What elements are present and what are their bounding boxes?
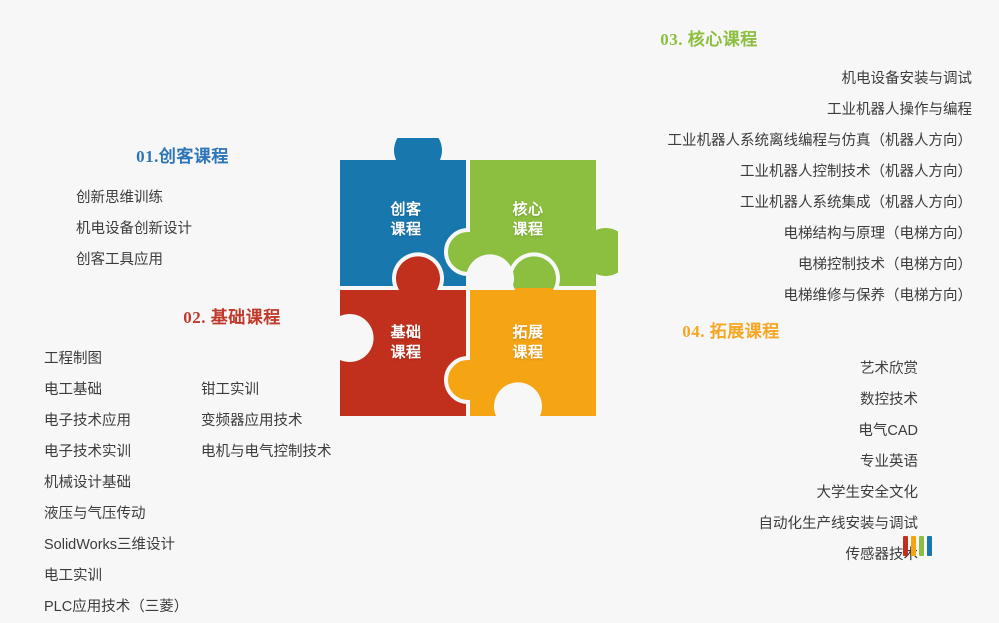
section-maker-heading: 01.创客课程 [50,145,315,169]
course-item: 变频器应用技术 [201,406,391,437]
course-item: 工业机器人系统集成（机器人方向） [560,188,980,219]
course-item: 电梯维修与保养（电梯方向） [560,281,980,312]
section-base-heading: 02. 基础课程 [44,306,374,330]
course-item: 大学生安全文化 [600,478,980,509]
base-courses-grid: 工程制图 电工基础 电子技术应用 电子技术实训 机械设计基础 液压与气压传动 S… [44,344,374,623]
course-item: 电子技术应用 [44,406,204,437]
course-item: 电梯结构与原理（电梯方向） [560,219,980,250]
course-item: PLC应用技术（三菱） [44,592,204,623]
logo-bar-green [919,536,924,556]
course-item: 钳工实训 [201,375,391,406]
course-item: 电气CAD [600,416,980,447]
course-item: 电工实训 [44,561,204,592]
course-item: 工业机器人系统离线编程与仿真（机器人方向） [560,126,980,157]
section-maker-courses: 01.创客课程 创新思维训练 机电设备创新设计 创客工具应用 [50,145,315,276]
logo-bars-icon [903,536,932,556]
course-item: 创新思维训练 [50,183,315,214]
base-courses-column-right: 钳工实训 变频器应用技术 电机与电气控制技术 [201,375,391,468]
course-item: 电子技术实训 [44,437,204,468]
course-item: 工业机器人操作与编程 [560,95,980,126]
section-core-heading: 03. 核心课程 [560,28,980,52]
base-courses-column-left: 工程制图 电工基础 电子技术应用 电子技术实训 机械设计基础 液压与气压传动 S… [44,344,204,623]
logo-bar-blue [927,536,932,556]
course-item: 机电设备创新设计 [50,214,315,245]
section-extension-heading: 04. 拓展课程 [600,320,980,344]
course-item: 数控技术 [600,385,980,416]
course-item: 电工基础 [44,375,204,406]
course-item: 液压与气压传动 [44,499,204,530]
section-base-courses: 02. 基础课程 工程制图 电工基础 电子技术应用 电子技术实训 机械设计基础 … [44,306,374,623]
course-item: 电梯控制技术（电梯方向） [560,250,980,281]
course-item: 艺术欣赏 [600,354,980,385]
course-item: 专业英语 [600,447,980,478]
course-item: 电机与电气控制技术 [201,437,391,468]
course-item: 机电设备安装与调试 [560,64,980,95]
course-item: 工业机器人控制技术（机器人方向） [560,157,980,188]
course-item: SolidWorks三维设计 [44,530,204,561]
section-extension-courses: 04. 拓展课程 艺术欣赏 数控技术 电气CAD 专业英语 大学生安全文化 自动… [600,320,980,571]
course-item: 创客工具应用 [50,245,315,276]
section-core-courses: 03. 核心课程 机电设备安装与调试 工业机器人操作与编程 工业机器人系统离线编… [560,28,980,312]
course-item: 工程制图 [44,344,204,375]
course-item: 机械设计基础 [44,468,204,499]
logo-bar-red [903,536,908,556]
slide-canvas: 创客 课程 核心 课程 基础 课程 拓展 课程 01.创客课程 创新思维训练 机… [0,0,999,621]
logo-bar-orange [911,536,916,556]
